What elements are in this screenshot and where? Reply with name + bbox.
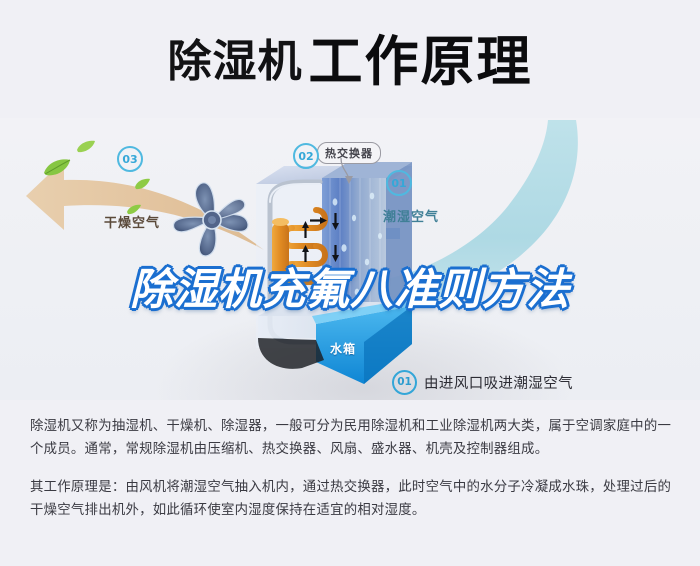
body-paragraph-1: 除湿机又称为抽湿机、干燥机、除湿器，一般可分为民用除湿机和工业除湿机两大类，属于… <box>30 415 675 461</box>
badge-dry-air: 03 <box>117 146 143 172</box>
page-title-part2: 工作原理 <box>309 35 533 89</box>
step-list: 01 由进风口吸进潮湿空气 02 潮湿空气经过蒸发器冷凝成水珠 03 从上部出风… <box>392 364 692 400</box>
badge-humid-air: 01 <box>386 170 412 196</box>
page-title-part1: 除湿机 <box>168 40 303 84</box>
leaf-icon <box>76 140 96 154</box>
page-root: 除湿机 工作原理 <box>0 0 700 566</box>
page-title: 除湿机 工作原理 <box>0 22 700 102</box>
diagram-stage: 热交换器 干燥空气 潮湿空气 水箱 03 02 01 01 由进风口吸进潮湿空气… <box>0 118 700 400</box>
label-humid-air: 潮湿空气 <box>383 206 439 225</box>
body-copy: 除湿机又称为抽湿机、干燥机、除湿器，一般可分为民用除湿机和工业除湿机两大类，属于… <box>30 415 675 522</box>
step-text: 由进风口吸进潮湿空气 <box>424 372 573 393</box>
step-number: 01 <box>392 370 417 395</box>
body-paragraph-2: 其工作原理是：由风机将潮湿空气抽入机内，通过热交换器，此时空气中的水分子冷凝成水… <box>30 476 675 522</box>
label-dry-air: 干燥空气 <box>104 212 160 231</box>
step-item: 01 由进风口吸进潮湿空气 <box>392 364 692 400</box>
fan-icon <box>168 176 256 264</box>
label-water-tank: 水箱 <box>330 340 356 357</box>
badge-heat-exchanger: 02 <box>293 143 319 169</box>
leaf-icon <box>42 158 72 178</box>
leaf-icon <box>134 178 151 191</box>
callout-pointer-icon <box>338 158 360 184</box>
